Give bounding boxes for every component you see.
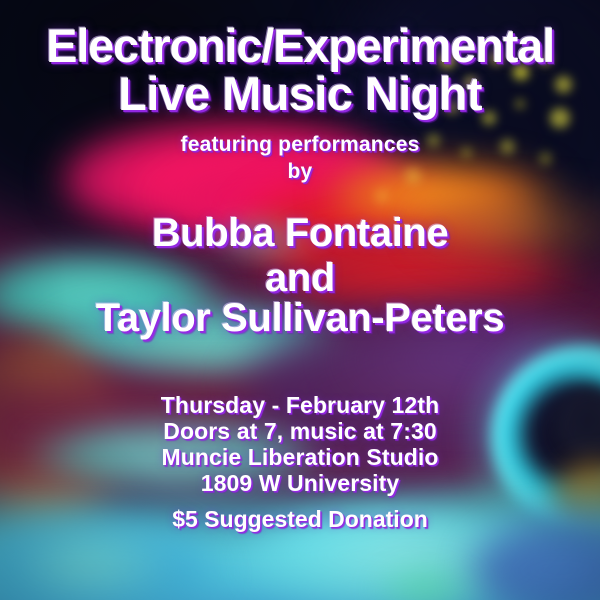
poster-content: Electronic/Experimental Live Music Night… <box>0 0 600 600</box>
event-poster: Electronic/Experimental Live Music Night… <box>0 0 600 600</box>
featuring-line-1: featuring performances <box>0 133 600 157</box>
event-detail-date: Thursday - February 12th <box>0 392 600 418</box>
event-details-block: Thursday - February 12th Doors at 7, mus… <box>0 392 600 496</box>
event-detail-times: Doors at 7, music at 7:30 <box>0 418 600 444</box>
poster-title-line-2: Live Music Night <box>0 66 600 121</box>
performer-conjunction: and <box>0 256 600 301</box>
event-detail-venue: Muncie Liberation Studio <box>0 444 600 470</box>
poster-title-line-1: Electronic/Experimental <box>0 18 600 73</box>
event-detail-address: 1809 W University <box>0 470 600 496</box>
performer-name-1: Bubba Fontaine <box>0 211 600 256</box>
featuring-line-2: by <box>0 160 600 184</box>
donation-note: $5 Suggested Donation <box>0 506 600 533</box>
performer-name-2: Taylor Sullivan-Peters <box>0 296 600 341</box>
